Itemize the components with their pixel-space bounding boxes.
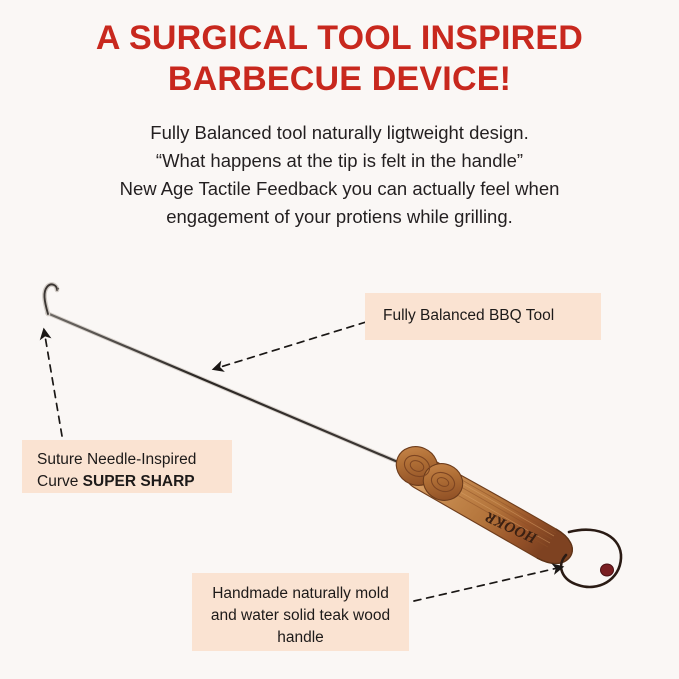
subtitle-block: Fully Balanced tool naturally ligtweight… (0, 119, 679, 231)
headline-line-1: A SURGICAL TOOL INSPIRED (0, 18, 679, 59)
callout-suture-line-2-bold: SUPER SHARP (83, 473, 195, 490)
subtitle-line-1: Fully Balanced tool naturally ligtweight… (0, 119, 679, 147)
subtitle-line-2: “What happens at the tip is felt in the … (0, 147, 679, 175)
callout-fully-balanced: Fully Balanced BBQ Tool (365, 293, 601, 340)
callout-teak-handle: Handmade naturally mold and water solid … (192, 573, 409, 651)
callout-balanced-line-1: Fully Balanced BBQ Tool (383, 305, 601, 327)
hook-tip (44, 284, 58, 314)
arrow-handle (414, 567, 562, 601)
infographic-canvas: HOOKR A SURGICAL TOOL INSPIRED BARBECUE … (0, 0, 679, 679)
callout-suture-line-2: Curve SUPER SHARP (37, 471, 232, 493)
loop-bead (601, 564, 614, 576)
headline-line-2: BARBECUE DEVICE! (0, 59, 679, 100)
callout-suture-line-1: Suture Needle-Inspired (37, 449, 232, 471)
teak-handle: HOOKR (390, 440, 572, 563)
leather-loop (561, 530, 621, 587)
callout-handle-line-2: and water solid teak wood (192, 605, 409, 627)
subtitle-line-3: New Age Tactile Feedback you can actuall… (0, 175, 679, 203)
callout-suture-needle: Suture Needle-Inspired Curve SUPER SHARP (22, 440, 232, 493)
callout-handle-line-1: Handmade naturally mold (192, 583, 409, 605)
callout-suture-line-2-normal: Curve (37, 473, 83, 490)
callout-handle-line-3: handle (192, 627, 409, 649)
page-title: A SURGICAL TOOL INSPIRED BARBECUE DEVICE… (0, 18, 679, 100)
arrow-balanced (214, 322, 366, 369)
arrow-suture (44, 330, 62, 436)
subtitle-line-4: engagement of your protiens while grilli… (0, 203, 679, 231)
